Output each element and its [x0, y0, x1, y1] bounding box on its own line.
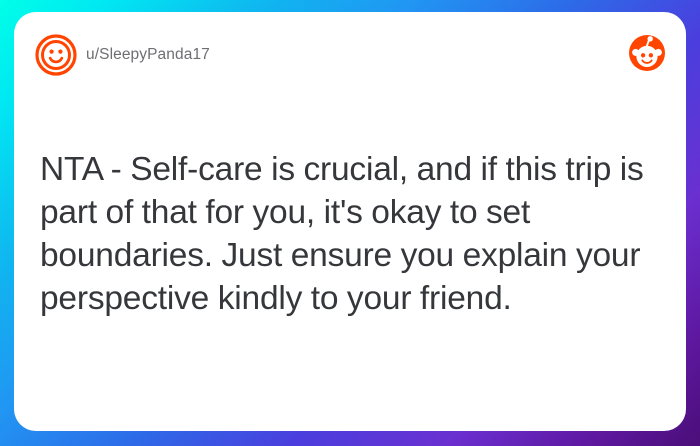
gradient-background: u/SleepyPanda17 NTA - Self-care is cruci… — [0, 0, 700, 446]
reddit-comment-card: u/SleepyPanda17 NTA - Self-care is cruci… — [14, 12, 686, 431]
username-label[interactable]: u/SleepyPanda17 — [86, 46, 210, 64]
smiley-face-avatar-icon[interactable] — [35, 34, 77, 76]
comment-text: NTA - Self-care is crucial, and if this … — [40, 148, 664, 320]
reddit-snoo-logo-icon[interactable] — [628, 34, 666, 72]
card-header: u/SleepyPanda17 — [14, 12, 686, 96]
card-body: NTA - Self-care is crucial, and if this … — [40, 148, 664, 320]
